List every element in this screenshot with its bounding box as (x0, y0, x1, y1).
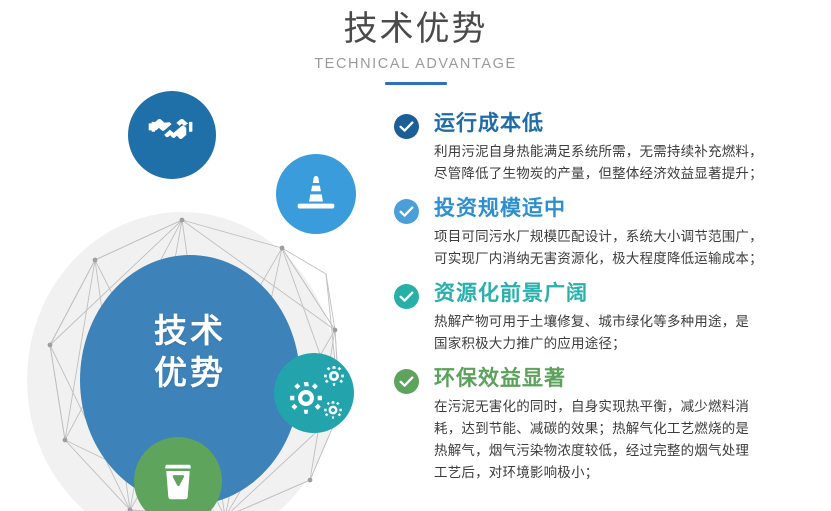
check-circle-icon-1 (394, 114, 419, 139)
traffic-cone-icon-circle (276, 154, 356, 234)
feature-body-line: 热解气，烟气污染物浓度较低，经过完整的烟气处理 (434, 440, 822, 462)
feature-title-4: 环保效益显著 (434, 365, 822, 393)
feature-list: 运行成本低 利用污泥自身热能满足系统所需，无需持续补充燃料， 尽管降低了生物炭的… (392, 110, 822, 484)
feature-body-line: 项目可同污水厂规模匹配设计，系统大小调节范围广， (434, 226, 822, 248)
page-header: 技术优势 TECHNICAL ADVANTAGE (0, 8, 831, 85)
feature-body-4: 在污泥无害化的同时，自身实现热平衡，减少燃料消 耗，达到节能、减碳的效果；热解气… (434, 396, 822, 484)
feature-title-1: 运行成本低 (434, 110, 822, 138)
feature-body-line: 尽管降低了生物炭的产量，但整体经济效益显著提升； (434, 163, 822, 185)
check-circle-icon-2 (394, 199, 419, 224)
page-title: 技术优势 (0, 8, 831, 50)
feature-body-line: 利用污泥自身热能满足系统所需，无需持续补充燃料， (434, 141, 822, 163)
gears-icon-circle (274, 353, 354, 433)
handshake-icon-circle (128, 91, 216, 179)
check-circle-icon-4 (394, 369, 419, 394)
feature-item-4: 环保效益显著 在污泥无害化的同时，自身实现热平衡，减少燃料消 耗，达到节能、减碳… (392, 365, 822, 484)
feature-body-line: 耗，达到节能、减碳的效果；热解气化工艺燃烧的是 (434, 418, 822, 440)
feature-body-line: 工艺后，对环境影响极小； (434, 462, 822, 484)
feature-item-3: 资源化前景广阔 热解产物可用于土壤修复、城市绿化等多种用途，是 国家积极大力推广… (392, 280, 822, 355)
page-subtitle: TECHNICAL ADVANTAGE (0, 54, 831, 74)
feature-item-2: 投资规模适中 项目可同污水厂规模匹配设计，系统大小调节范围广， 可实现厂内消纳无… (392, 195, 822, 270)
gears-circle-bg (274, 353, 354, 433)
feature-body-1: 利用污泥自身热能满足系统所需，无需持续补充燃料， 尽管降低了生物炭的产量，但整体… (434, 141, 822, 185)
feature-title-2: 投资规模适中 (434, 195, 822, 223)
feature-body-line: 热解产物可用于土壤修复、城市绿化等多种用途，是 (434, 311, 822, 333)
feature-body-line: 可实现厂内消纳无害资源化，极大程度降低运输成本； (434, 248, 822, 270)
feature-item-1: 运行成本低 利用污泥自身热能满足系统所需，无需持续补充燃料， 尽管降低了生物炭的… (392, 110, 822, 185)
feature-body-2: 项目可同污水厂规模匹配设计，系统大小调节范围广， 可实现厂内消纳无害资源化，极大… (434, 226, 822, 270)
feature-body-line: 国家积极大力推广的应用途径； (434, 333, 822, 355)
title-underline-rule (385, 82, 447, 85)
feature-body-3: 热解产物可用于土壤修复、城市绿化等多种用途，是 国家积极大力推广的应用途径； (434, 311, 822, 355)
feature-body-line: 在污泥无害化的同时，自身实现热平衡，减少燃料消 (434, 396, 822, 418)
check-circle-icon-3 (394, 284, 419, 309)
slide-root: 技术优势 TECHNICAL ADVANTAGE (0, 0, 831, 511)
technology-advantage-graphic: 技术 优势 (10, 80, 390, 511)
cone-circle-bg (276, 154, 356, 234)
feature-title-3: 资源化前景广阔 (434, 280, 822, 308)
